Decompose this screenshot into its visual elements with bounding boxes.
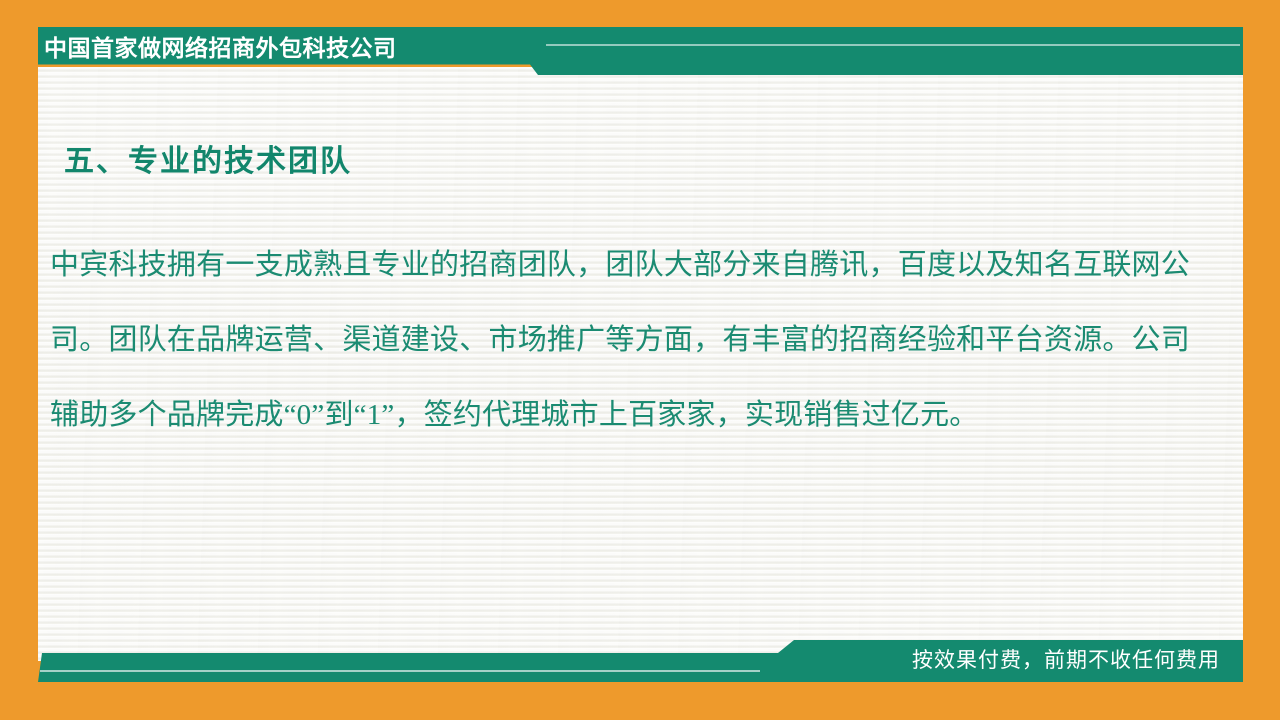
body-paragraph: 中宾科技拥有一支成熟且专业的招商团队，团队大部分来自腾讯，百度以及知名互联网公司…: [50, 228, 1190, 453]
section-heading: 五、专业的技术团队: [64, 136, 352, 180]
footer-slogan: 按效果付费，前期不收任何费用: [912, 646, 1220, 676]
footer-divider-line: [40, 670, 760, 672]
header-title: 中国首家做网络招商外包科技公司: [44, 29, 397, 67]
presentation-slide: 中国首家做网络招商外包科技公司 五、专业的技术团队 中宾科技拥有一支成熟且专业的…: [0, 0, 1280, 720]
header-divider-line: [546, 44, 1240, 46]
